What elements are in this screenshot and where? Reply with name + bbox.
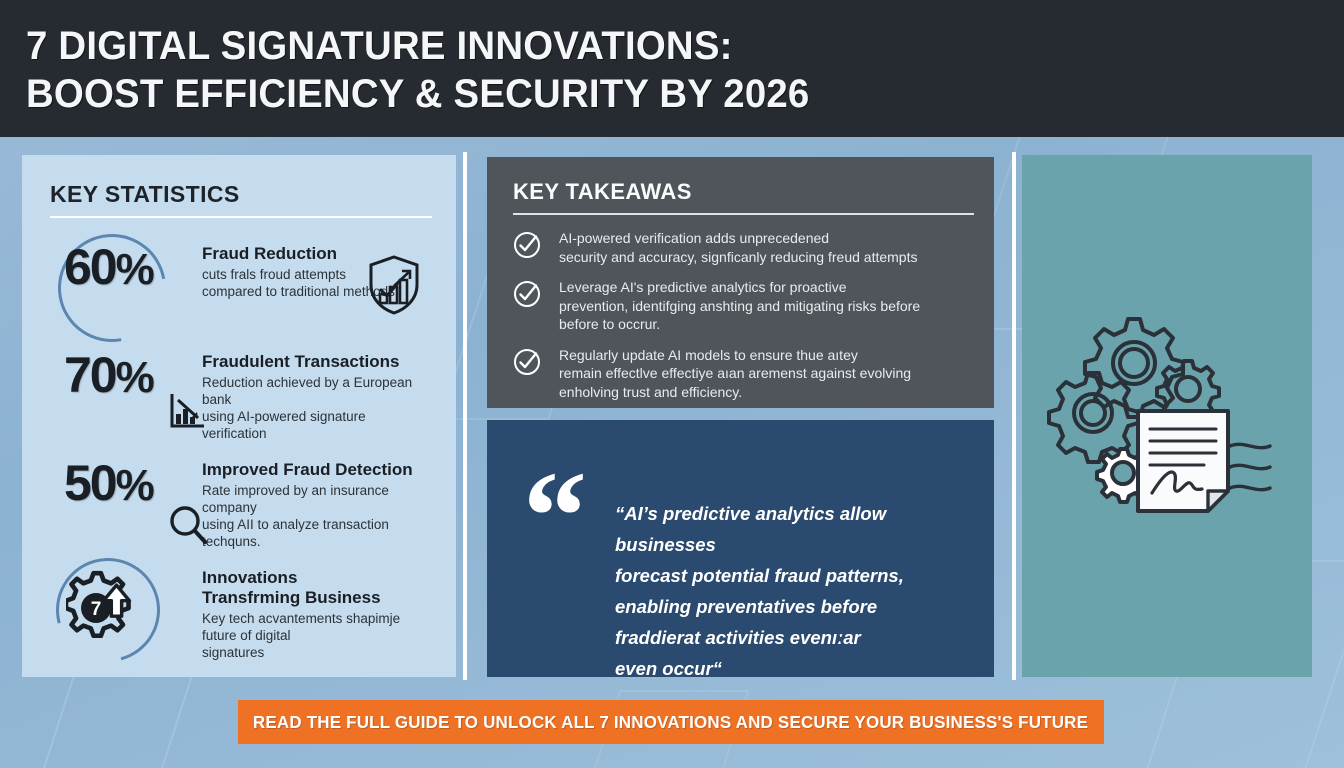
key-takeaways-panel: KEY TAKEAWAS AI-powered verification add…	[487, 157, 994, 408]
illustration-panel	[1022, 155, 1312, 677]
infographic-page: 7 DIGITAL SIGNATURE INNOVATIONS: BOOST E…	[0, 0, 1344, 768]
cta-label: READ THE FULL GUIDE TO UNLOCK ALL 7 INNO…	[253, 712, 1088, 733]
title-underline	[513, 213, 974, 215]
stat-subtext: Reduction achieved by a European bank us…	[202, 374, 432, 442]
stat-item: 70% Fraudulent Transactions Reduction ac…	[50, 344, 432, 448]
stat-value: 50%	[50, 458, 153, 508]
check-circle-icon	[513, 229, 559, 266]
stat-subheading: Transfrming Business	[202, 588, 432, 608]
stat-text: Fraudulent Transactions Reduction achiev…	[202, 344, 432, 448]
takeaway-text: AI-powered verification adds unprecedene…	[559, 229, 917, 266]
gear-seven-arrow-icon: 7	[66, 564, 162, 661]
takeaway-item: Regularly update AI models to ensure thu…	[513, 346, 974, 402]
takeaway-item: Leverage AI's predictive analytics for p…	[513, 278, 974, 334]
stat-heading: Improved Fraud Detection	[202, 460, 432, 480]
key-statistics-panel: KEY STATISTICS 60% Fraud Reduction cuts …	[22, 155, 456, 677]
stat-item: 60% Fraud Reduction cuts frals froud att…	[50, 236, 432, 340]
stat-item: 50% Improved Fraud Detection Rate improv…	[50, 452, 432, 556]
declining-chart-icon	[168, 390, 208, 435]
cta-banner[interactable]: READ THE FULL GUIDE TO UNLOCK ALL 7 INNO…	[238, 700, 1104, 744]
quotation-mark-icon: “	[523, 472, 587, 562]
check-circle-icon	[513, 278, 559, 334]
stat-value: 60%	[50, 242, 153, 292]
key-statistics-title: KEY STATISTICS	[50, 181, 432, 208]
takeaway-text: Leverage AI's predictive analytics for p…	[559, 278, 920, 334]
title-underline	[50, 216, 432, 218]
title-line-2: BOOST EFFICIENCY & SECURITY BY 2026	[26, 70, 1291, 118]
check-circle-icon	[513, 346, 559, 402]
motion-lines	[1230, 444, 1270, 489]
stat-text: Improved Fraud Detection Rate improved b…	[202, 452, 432, 556]
svg-text:7: 7	[91, 599, 102, 620]
gears-signed-document-illustration	[1032, 281, 1302, 551]
stat-value: 70%	[50, 350, 153, 400]
stat-figure: 7	[50, 560, 202, 661]
page-title: 7 DIGITAL SIGNATURE INNOVATIONS: BOOST E…	[26, 22, 1291, 118]
stat-subtext: Key tech acvantements shapimje future of…	[202, 610, 432, 661]
stat-subtext: Rate improved by an insurance company us…	[202, 482, 432, 550]
signed-document-icon	[1138, 411, 1228, 511]
header-bar: 7 DIGITAL SIGNATURE INNOVATIONS: BOOST E…	[0, 0, 1344, 137]
key-takeaways-title: KEY TAKEAWAS	[513, 179, 974, 205]
stat-heading: Innovations	[202, 568, 432, 588]
takeaway-item: AI-powered verification adds unprecedene…	[513, 229, 974, 266]
stat-figure: 60%	[50, 236, 202, 340]
title-line-1: 7 DIGITAL SIGNATURE INNOVATIONS:	[26, 24, 733, 68]
quote-text: “AI’s predictive analytics allow busines…	[615, 498, 973, 684]
stat-text: Innovations Transfrming Business Key tec…	[202, 560, 432, 661]
shield-chart-icon	[366, 254, 422, 321]
vertical-divider-left	[463, 152, 467, 680]
magnifier-icon	[168, 502, 208, 551]
stat-heading: Fraudulent Transactions	[202, 352, 432, 372]
stat-item: 7 Innovations Transfrming Business Key t…	[50, 560, 432, 661]
vertical-divider-right	[1012, 152, 1016, 680]
quote-panel: “ “AI’s predictive analytics allow busin…	[487, 420, 994, 677]
takeaway-text: Regularly update AI models to ensure thu…	[559, 346, 911, 402]
